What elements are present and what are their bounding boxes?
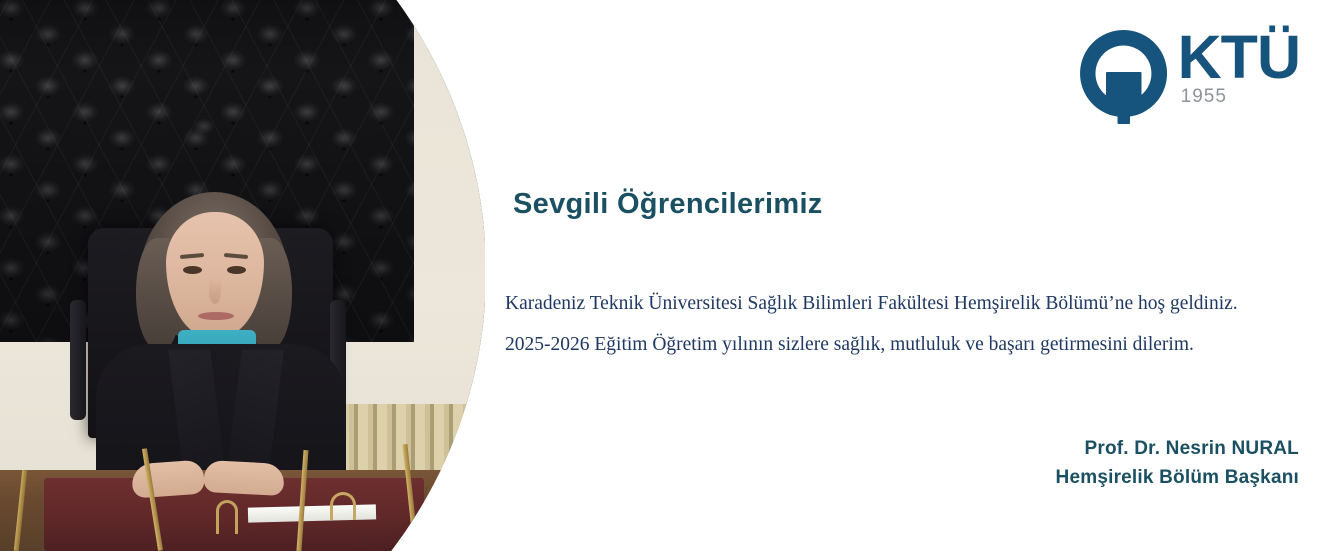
welcome-message-line-2: 2025-2026 Eğitim Öğretim yılının sizlere… bbox=[505, 324, 1331, 365]
hand-left bbox=[131, 460, 205, 499]
hand-right bbox=[203, 460, 285, 496]
brass-arc-1 bbox=[216, 500, 238, 534]
welcome-message-line-1: Karadeniz Teknik Üniversitesi Sağlık Bil… bbox=[505, 283, 1331, 324]
signature-block: Prof. Dr. Nesrin NURAL Hemşirelik Bölüm … bbox=[1056, 434, 1299, 492]
eye-right bbox=[227, 266, 246, 274]
eye-left bbox=[183, 266, 202, 274]
brass-arc-2 bbox=[330, 492, 356, 520]
nose bbox=[209, 278, 221, 304]
message-content: Sevgili Öğrencilerimiz Karadeniz Teknik … bbox=[485, 0, 1344, 551]
portrait-photo-inner bbox=[0, 0, 485, 551]
signature-name: Prof. Dr. Nesrin NURAL bbox=[1056, 434, 1299, 463]
page-title: Sevgili Öğrencilerimiz bbox=[513, 188, 823, 221]
announcement-banner: KTÜ 1955 Sevgili Öğrencilerimiz Karadeni… bbox=[0, 0, 1344, 551]
portrait-photo bbox=[0, 0, 485, 551]
welcome-message: Karadeniz Teknik Üniversitesi Sağlık Bil… bbox=[505, 283, 1331, 365]
signature-title: Hemşirelik Bölüm Başkanı bbox=[1056, 463, 1299, 492]
mouth bbox=[198, 312, 234, 320]
